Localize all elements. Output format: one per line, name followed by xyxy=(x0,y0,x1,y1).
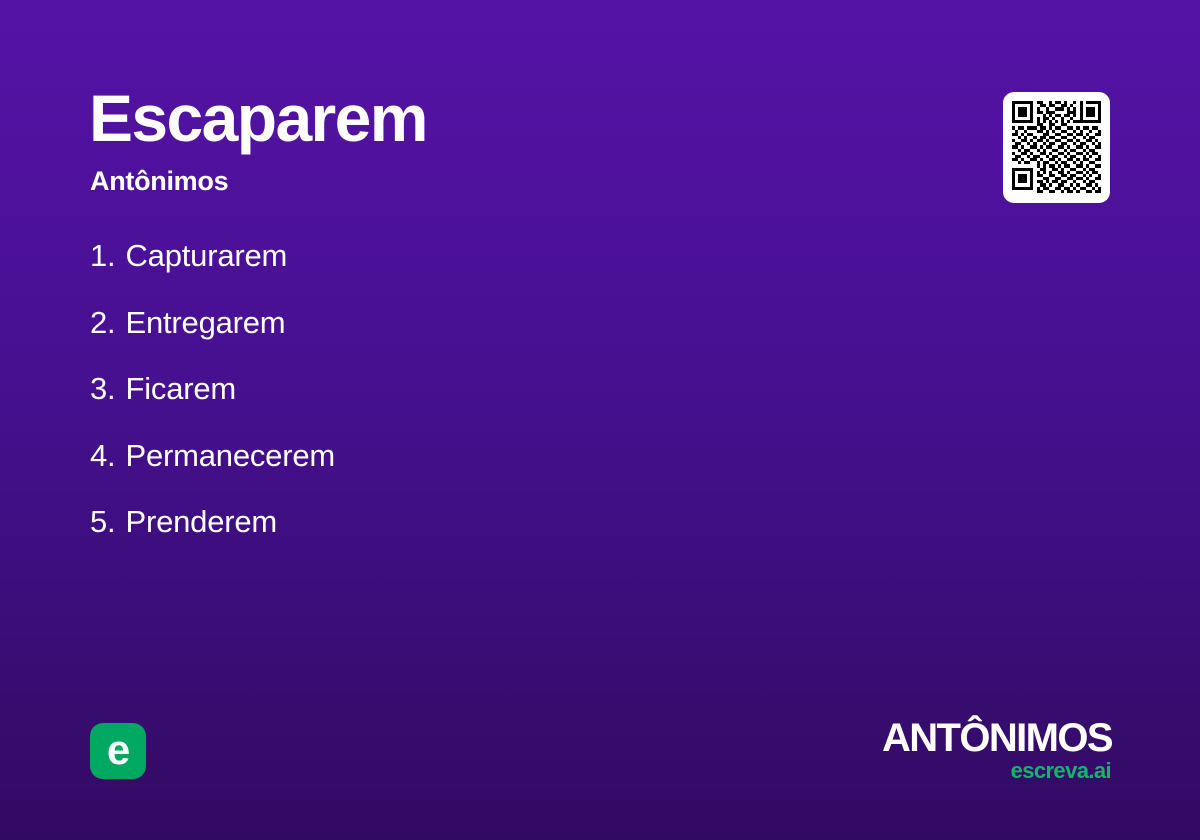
list-item: 5.Prenderem xyxy=(90,504,790,571)
antonyms-word-card: Escaparem Antônimos 1.Capturarem2.Entreg… xyxy=(0,0,1200,840)
antonyms-list: 1.Capturarem2.Entregarem3.Ficarem4.Perma… xyxy=(90,238,790,571)
list-item: 1.Capturarem xyxy=(90,238,790,305)
list-item-number: 4. xyxy=(90,438,115,474)
page-title: Escaparem xyxy=(89,85,427,151)
badge-letter: e xyxy=(107,729,129,771)
brand-name: ANTÔNIMOS xyxy=(882,718,1112,758)
brand-domain: escreva.ai xyxy=(882,760,1111,782)
list-item-number: 5. xyxy=(90,504,115,540)
list-item-word: Capturarem xyxy=(125,238,287,274)
list-item: 3.Ficarem xyxy=(90,371,790,438)
list-item-word: Prenderem xyxy=(125,504,277,540)
brand-lockup: ANTÔNIMOS escreva.ai xyxy=(882,718,1112,782)
list-item: 4.Permanecerem xyxy=(90,438,790,505)
qr-code-icon xyxy=(1012,101,1101,193)
list-item-word: Entregarem xyxy=(125,305,285,341)
list-item-number: 3. xyxy=(90,371,115,407)
escreva-logo-badge[interactable]: e xyxy=(90,723,146,779)
list-item-word: Ficarem xyxy=(125,371,236,407)
list-item-word: Permanecerem xyxy=(125,438,335,474)
qr-code-card[interactable] xyxy=(1003,92,1110,203)
page-subtitle: Antônimos xyxy=(90,168,228,195)
list-item: 2.Entregarem xyxy=(90,305,790,372)
list-item-number: 2. xyxy=(90,305,115,341)
list-item-number: 1. xyxy=(90,238,115,274)
